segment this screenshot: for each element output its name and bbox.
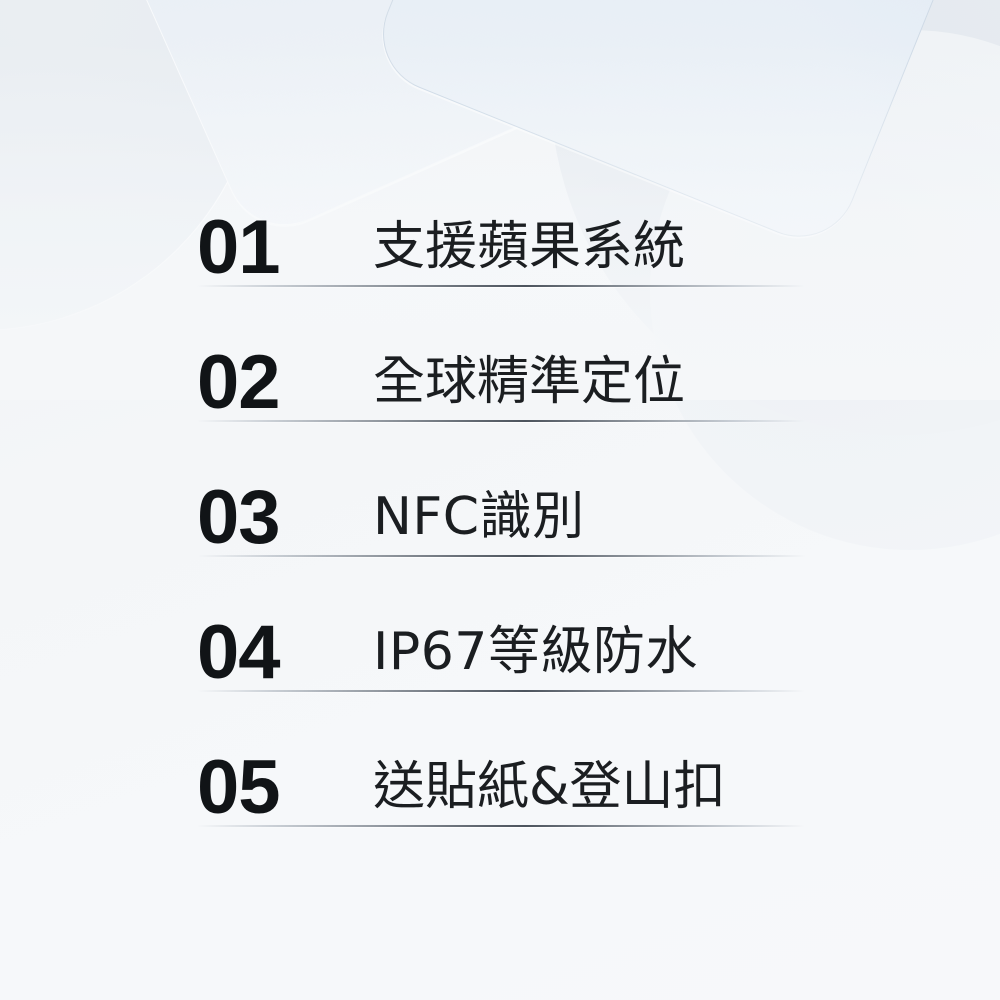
feature-divider <box>197 825 805 827</box>
feature-row: 01支援蘋果系統 <box>197 180 805 315</box>
feature-row: 05送貼紙&登山扣 <box>197 720 805 855</box>
feature-label: NFC識別 <box>373 488 805 548</box>
feature-row: 04IP67等級防水 <box>197 585 805 720</box>
feature-row: 02全球精準定位 <box>197 315 805 450</box>
feature-label: 送貼紙&登山扣 <box>373 758 805 818</box>
feature-label: 全球精準定位 <box>373 353 805 413</box>
feature-poster: 01支援蘋果系統02全球精準定位03NFC識別04IP67等級防水05送貼紙&登… <box>0 0 1000 1000</box>
feature-number: 04 <box>197 615 373 691</box>
feature-label: 支援蘋果系統 <box>373 218 805 278</box>
feature-divider <box>197 285 805 287</box>
feature-row: 03NFC識別 <box>197 450 805 585</box>
feature-number: 05 <box>197 750 373 826</box>
feature-number: 03 <box>197 480 373 556</box>
feature-number: 02 <box>197 345 373 421</box>
feature-label: IP67等級防水 <box>373 623 805 683</box>
feature-divider <box>197 555 805 557</box>
feature-divider <box>197 690 805 692</box>
feature-number: 01 <box>197 210 373 286</box>
feature-divider <box>197 420 805 422</box>
